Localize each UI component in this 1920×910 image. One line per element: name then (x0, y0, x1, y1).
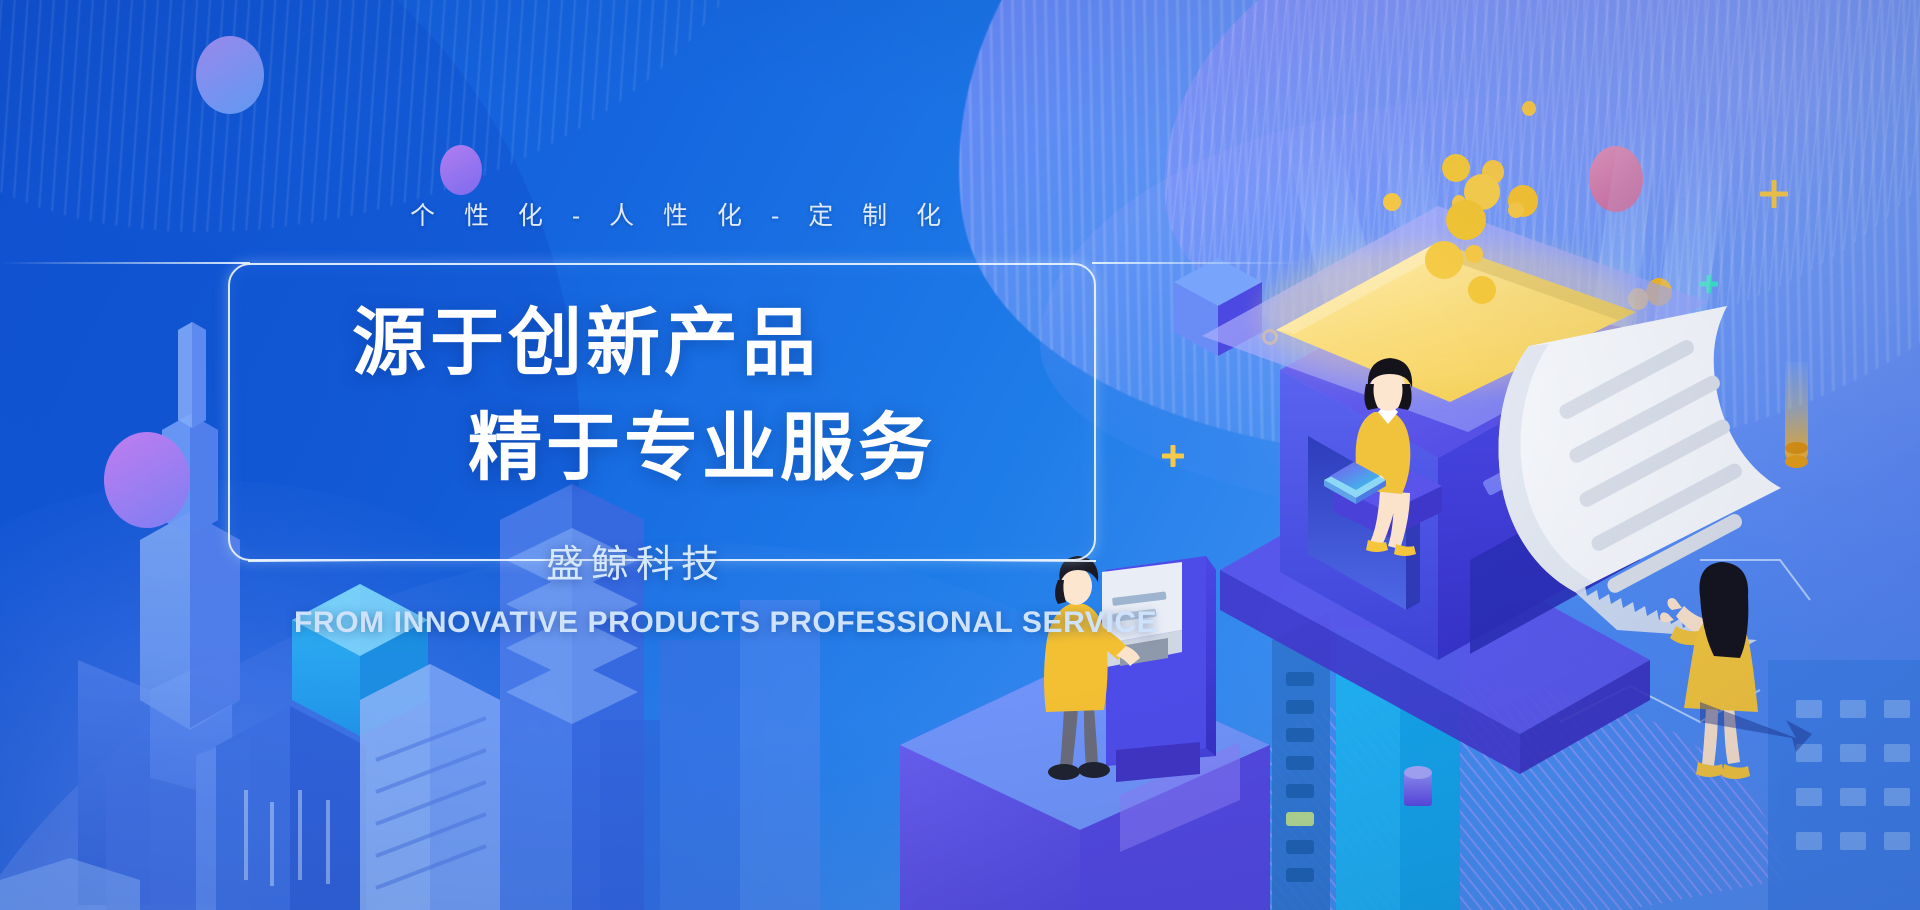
vignette-overlay (0, 0, 1920, 910)
hero-banner: 个 性 化 - 人 性 化 - 定 制 化 源于创新产品 精于专业服务 盛鲸科技… (0, 0, 1920, 910)
